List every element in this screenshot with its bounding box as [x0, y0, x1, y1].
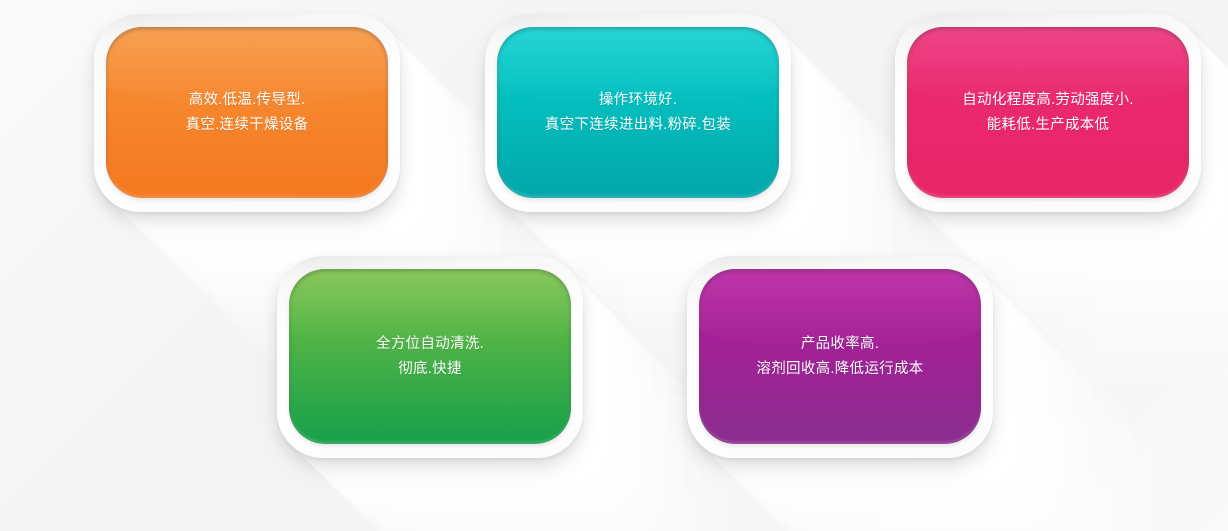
card-color-panel: 全方位自动清洗. 彻底.快捷	[289, 269, 571, 444]
card-text: 自动化程度高.劳动强度小. 能耗低.生产成本低	[948, 88, 1147, 138]
card-automation-low-cost[interactable]: 自动化程度高.劳动强度小. 能耗低.生产成本低	[895, 14, 1201, 212]
card-color-panel: 自动化程度高.劳动强度小. 能耗低.生产成本低	[907, 27, 1189, 198]
feature-cards-canvas: 高效.低温.传导型. 真空.连续干燥设备操作环境好. 真空下连续进出料.粉碎.包…	[0, 0, 1228, 531]
card-text: 高效.低温.传导型. 真空.连续干燥设备	[172, 88, 323, 138]
card-white-frame: 产品收率高. 溶剂回收高.降低运行成本	[687, 256, 993, 458]
card-text: 产品收率高. 溶剂回收高.降低运行成本	[742, 332, 937, 382]
card-white-frame: 操作环境好. 真空下连续进出料.粉碎.包装	[485, 14, 791, 212]
card-product-yield-solvent-recovery[interactable]: 产品收率高. 溶剂回收高.降低运行成本	[687, 256, 993, 458]
card-efficient-low-temp-drying[interactable]: 高效.低温.传导型. 真空.连续干燥设备	[94, 14, 400, 212]
card-text: 操作环境好. 真空下连续进出料.粉碎.包装	[531, 88, 745, 138]
card-color-panel: 操作环境好. 真空下连续进出料.粉碎.包装	[497, 27, 779, 198]
card-white-frame: 高效.低温.传导型. 真空.连续干燥设备	[94, 14, 400, 212]
card-white-frame: 自动化程度高.劳动强度小. 能耗低.生产成本低	[895, 14, 1201, 212]
card-operating-environment[interactable]: 操作环境好. 真空下连续进出料.粉碎.包装	[485, 14, 791, 212]
card-text: 全方位自动清洗. 彻底.快捷	[362, 332, 498, 382]
card-white-frame: 全方位自动清洗. 彻底.快捷	[277, 256, 583, 458]
card-color-panel: 产品收率高. 溶剂回收高.降低运行成本	[699, 269, 981, 444]
card-color-panel: 高效.低温.传导型. 真空.连续干燥设备	[106, 27, 388, 198]
card-automatic-cleaning[interactable]: 全方位自动清洗. 彻底.快捷	[277, 256, 583, 458]
